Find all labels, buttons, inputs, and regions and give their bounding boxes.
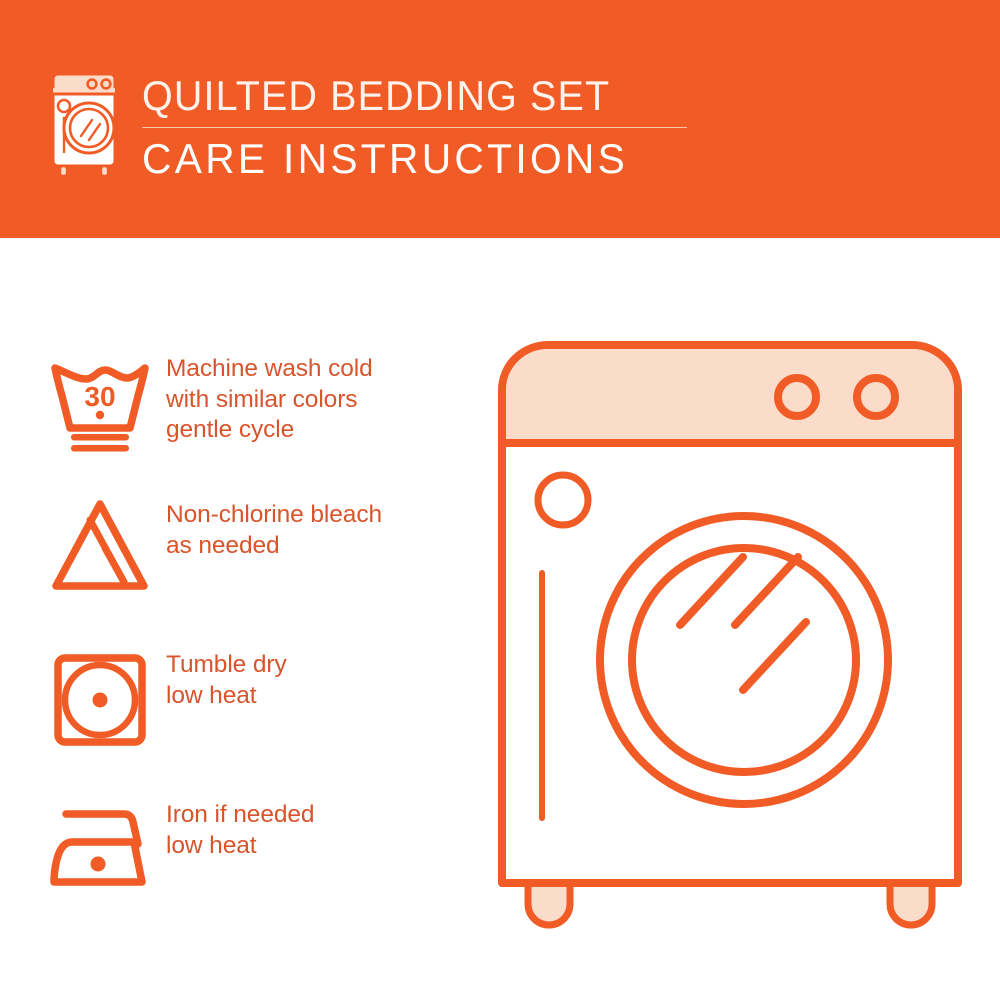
control-panel [506, 349, 954, 443]
wash-temperature-label: 30 [84, 381, 115, 412]
care-row-machine-wash: 30 Machine wash cold with similar colors… [48, 352, 468, 456]
non-chlorine-bleach-triangle-icon [48, 498, 166, 602]
care-text-tumble-dry: Tumble dry low heat [166, 648, 287, 711]
header-title-block: QUILTED BEDDING SET CARE INSTRUCTIONS [142, 72, 702, 184]
iron-icon [48, 798, 166, 902]
care-instructions-infographic: QUILTED BEDDING SET CARE INSTRUCTIONS 30… [0, 0, 1000, 1000]
care-row-iron: Iron if needed low heat [48, 798, 468, 902]
washing-machine-illustration [495, 335, 965, 935]
page-title-primary: QUILTED BEDDING SET [142, 72, 668, 120]
header-banner: QUILTED BEDDING SET CARE INSTRUCTIONS [0, 0, 1000, 238]
care-row-bleach: Non-chlorine bleach as needed [48, 498, 468, 602]
care-row-tumble-dry: Tumble dry low heat [48, 648, 468, 752]
title-divider [142, 127, 687, 128]
care-text-machine-wash: Machine wash cold with similar colors ge… [166, 352, 373, 446]
care-text-bleach: Non-chlorine bleach as needed [166, 498, 382, 561]
care-text-iron: Iron if needed low heat [166, 798, 314, 861]
page-title-secondary: CARE INSTRUCTIONS [142, 134, 685, 184]
washing-machine-icon [45, 70, 123, 178]
tumble-dry-square-icon [48, 648, 166, 752]
machine-wash-tub-icon: 30 [48, 352, 166, 456]
